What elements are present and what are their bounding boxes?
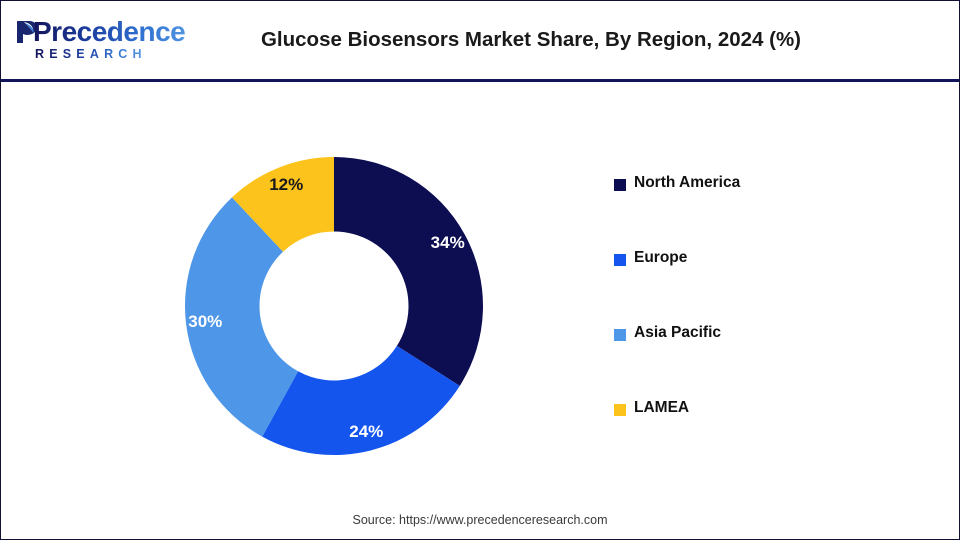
source-note: Source: https://www.precedenceresearch.c… — [1, 513, 959, 527]
donut-slice-label: 24% — [349, 422, 383, 442]
donut-chart: 34%24%30%12% — [184, 156, 484, 456]
legend-label-north-america: North America — [634, 174, 740, 192]
donut-slice-label: 34% — [431, 233, 465, 253]
legend-item-north-america[interactable]: North America — [614, 179, 874, 254]
legend-label-asia-pacific: Asia Pacific — [634, 324, 721, 342]
legend-swatch-lamea — [614, 404, 626, 416]
donut-slice-label: 30% — [188, 312, 222, 332]
donut-slices — [185, 157, 483, 455]
donut-chart-svg — [184, 156, 484, 456]
donut-slice-label: 12% — [269, 175, 303, 195]
donut-slice[interactable] — [334, 157, 483, 386]
legend-label-lamea: LAMEA — [634, 399, 689, 417]
legend-swatch-north-america — [614, 179, 626, 191]
page-title: Glucose Biosensors Market Share, By Regi… — [181, 1, 881, 79]
legend-swatch-asia-pacific — [614, 329, 626, 341]
chart-page: Precedence RESEARCH Glucose Biosensors M… — [0, 0, 960, 540]
legend-label-europe: Europe — [634, 249, 687, 267]
chart-area: 34%24%30%12% North America Europe Asia P… — [1, 83, 959, 539]
legend-item-europe[interactable]: Europe — [614, 254, 874, 329]
legend-item-asia-pacific[interactable]: Asia Pacific — [614, 329, 874, 404]
chart-legend: North America Europe Asia Pacific LAMEA — [614, 179, 874, 479]
logo-wordmark: Precedence — [33, 17, 185, 47]
legend-item-lamea[interactable]: LAMEA — [614, 404, 874, 479]
precedence-research-logo: Precedence RESEARCH — [15, 17, 175, 67]
legend-swatch-europe — [614, 254, 626, 266]
logo-subtext: RESEARCH — [35, 47, 147, 61]
page-header: Precedence RESEARCH Glucose Biosensors M… — [1, 1, 959, 82]
